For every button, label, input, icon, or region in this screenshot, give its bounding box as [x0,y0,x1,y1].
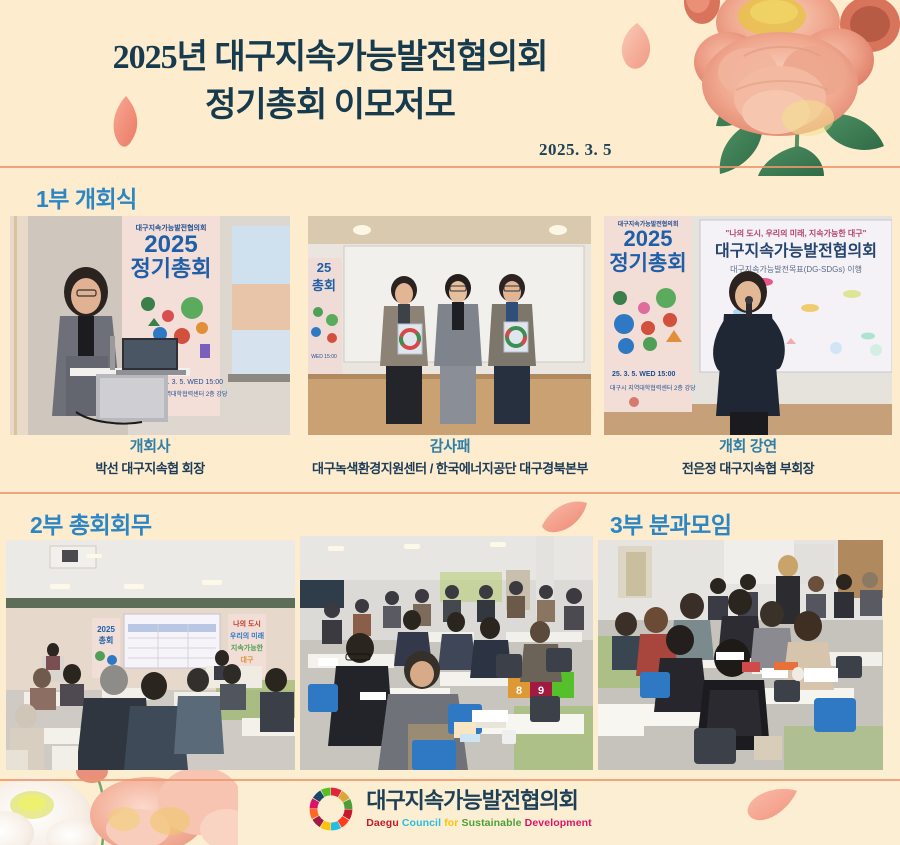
section-heading-part3: 3부 분과모임 [610,506,731,540]
caption-title: 감사패 [300,436,600,459]
sdg-wheel-icon [308,786,354,832]
svg-text:8: 8 [516,685,522,697]
svg-text:대구시 지역대학협력센터 2층 강당: 대구시 지역대학협력센터 2층 강당 [610,384,696,392]
svg-text:총회: 총회 [99,635,114,645]
caption-title: 개회사 [10,436,290,459]
photo-subcommittee-meeting [598,540,883,770]
svg-text:지속가능한: 지속가능한 [231,643,264,652]
caption-opening-lecture: 개회 강연 전은정 대구지속협 부회장 [604,436,892,479]
svg-text:우리의 미래: 우리의 미래 [230,631,264,640]
svg-text:정기총회: 정기총회 [131,256,212,281]
svg-text:총회: 총회 [312,278,336,293]
svg-text:25. 3. 5. WED 15:00: 25. 3. 5. WED 15:00 [612,371,676,378]
svg-text:9: 9 [538,685,544,697]
svg-text:정기총회: 정기총회 [609,252,686,275]
photo-assembly-participants: 8 9 [300,536,593,770]
title-line-1: 2025년 대구지속가능발전협의회 [0,34,660,82]
svg-text:2025: 2025 [97,625,115,634]
svg-text:대구지속가능발전협의회: 대구지속가능발전협의회 [715,241,877,260]
title-line-2: 정기총회 이모저모 [0,82,660,130]
event-date: 2025. 3. 5 [0,140,660,160]
svg-text:2025: 2025 [624,226,673,251]
svg-text:25: 25 [317,260,331,275]
svg-text:25. 3. 5. WED 15:00: 25. 3. 5. WED 15:00 [160,379,223,386]
divider-line-top [0,166,900,168]
poster-header: 2025년 대구지속가능발전협의회 정기총회 이모저모 2025. 3. 5 [0,0,900,166]
photo-opening-address: 대구지속가능발전협의회 2025 정기총회 25. 3. 5. WED 15:0… [10,216,290,435]
logo-name-korean: 대구지속가능발전협의회 [366,788,592,813]
svg-text:"나의 도시, 우리의 미래, 지속가능한 대구": "나의 도시, 우리의 미래, 지속가능한 대구" [726,228,867,238]
caption-appreciation-plaque: 감사패 대구녹색환경지원센터 / 한국에너지공단 대구경북본부 [300,436,600,479]
logo-text-block: 대구지속가능발전협의회 Daegu Council for Sustainabl… [366,788,592,829]
svg-text:나의 도시: 나의 도시 [233,619,261,628]
photo-appreciation-plaque: 25 총회 WED 15:00 [308,216,591,435]
caption-opening-address: 개회사 박선 대구지속협 회장 [10,436,290,479]
logo-name-english: Daegu Council for Sustainable Developmen… [366,816,592,830]
svg-text:2025: 2025 [144,231,197,258]
photo-opening-lecture: "나의 도시, 우리의 미래, 지속가능한 대구" 대구지속가능발전협의회 대구… [604,216,892,435]
caption-title: 개회 강연 [604,436,892,459]
caption-subtitle: 박선 대구지속협 회장 [10,459,290,480]
section-heading-part1: 1부 개회식 [36,180,137,214]
divider-line-bottom [0,779,900,781]
petal-decoration-part3 [540,500,590,534]
svg-text:WED 15:00: WED 15:00 [311,354,337,360]
poster-canvas: 2025년 대구지속가능발전협의회 정기총회 이모저모 2025. 3. 5 1… [0,0,900,845]
svg-text:지역대학협력센터 2층 강당: 지역대학협력센터 2층 강당 [160,390,228,398]
caption-subtitle: 전은정 대구지속협 부회장 [604,459,892,480]
svg-text:대구: 대구 [241,655,254,664]
divider-line-middle [0,492,900,494]
footer-organization-logo: 대구지속가능발전협의회 Daegu Council for Sustainabl… [0,786,900,832]
page-title: 2025년 대구지속가능발전협의회 정기총회 이모저모 [0,34,660,131]
section-heading-part2: 2부 총회회무 [30,506,151,540]
caption-subtitle: 대구녹색환경지원센터 / 한국에너지공단 대구경북본부 [300,459,600,480]
photo-general-assembly-audience: 2025 총회 나의 도시 우리의 미래 지속가능한 대구 [6,540,295,770]
